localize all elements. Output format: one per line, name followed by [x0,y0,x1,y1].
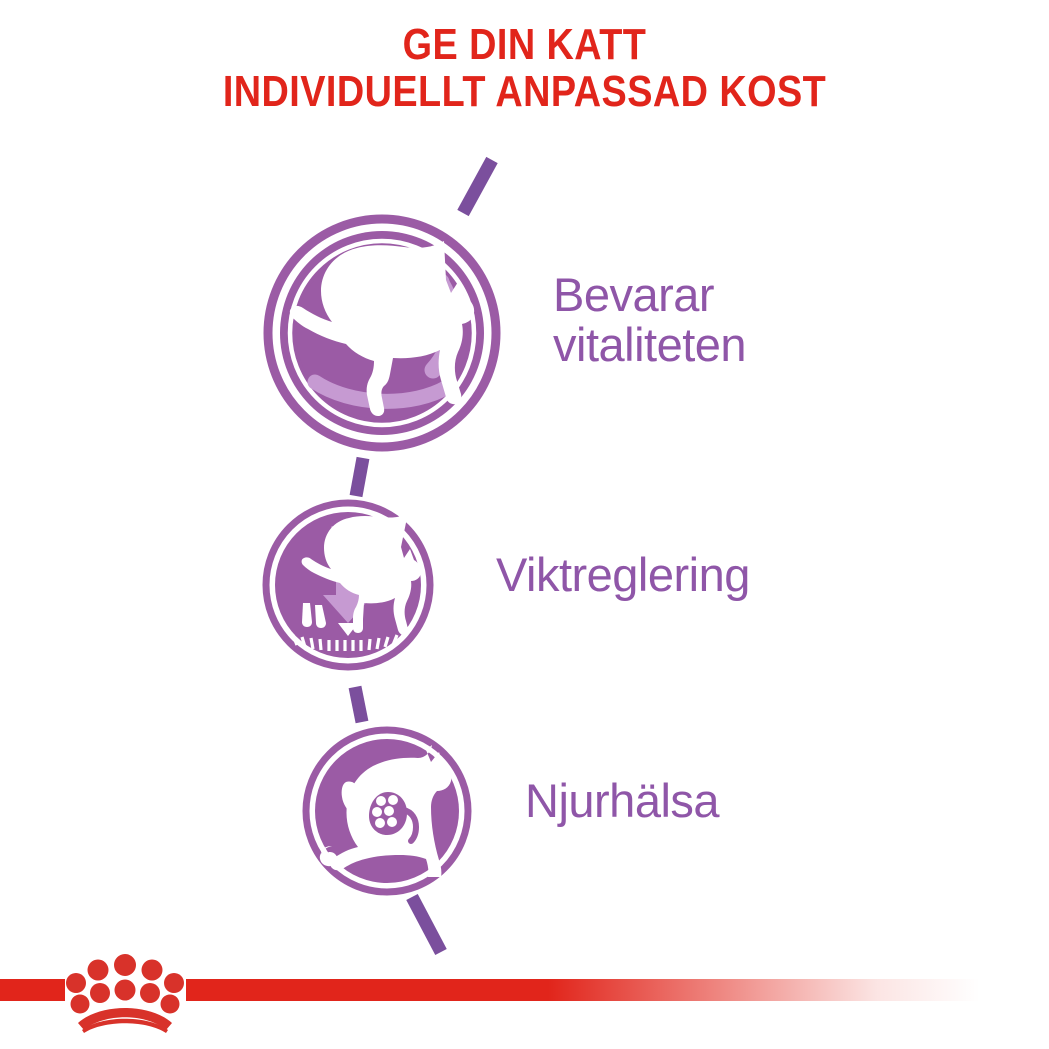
connector-segment-2-3 [355,687,362,722]
cat-vitality-icon [263,214,501,452]
benefit-label-vitality: Bevarar vitaliteten [553,270,746,370]
footer-rule-right [186,979,1049,1001]
benefit-row-weight: KG [262,499,902,673]
footer [0,937,1049,1049]
page-title: GE DIN KATT INDIVIDUELLT ANPASSAD KOST [0,22,1049,115]
royal-canin-crown-icon [62,951,188,1033]
cat-kidney-health-icon [302,726,472,896]
connector-segment-1-2 [356,458,363,496]
connector-segment-top [463,160,492,213]
page-title-line-2: INDIVIDUELLT ANPASSAD KOST [73,69,975,116]
royal-canin-benefits-infographic: GE DIN KATT INDIVIDUELLT ANPASSAD KOST [0,0,1049,1049]
page-title-line-1: GE DIN KATT [73,22,975,69]
benefit-row-kidney: Njurhälsa [302,726,942,898]
benefit-row-vitality: Bevarar vitaliteten [263,214,903,454]
benefit-label-weight: Viktreglering [496,550,750,600]
cat-weight-scale-icon: KG [262,499,434,671]
footer-rule-left [0,979,65,1001]
benefit-label-kidney: Njurhälsa [525,776,719,826]
